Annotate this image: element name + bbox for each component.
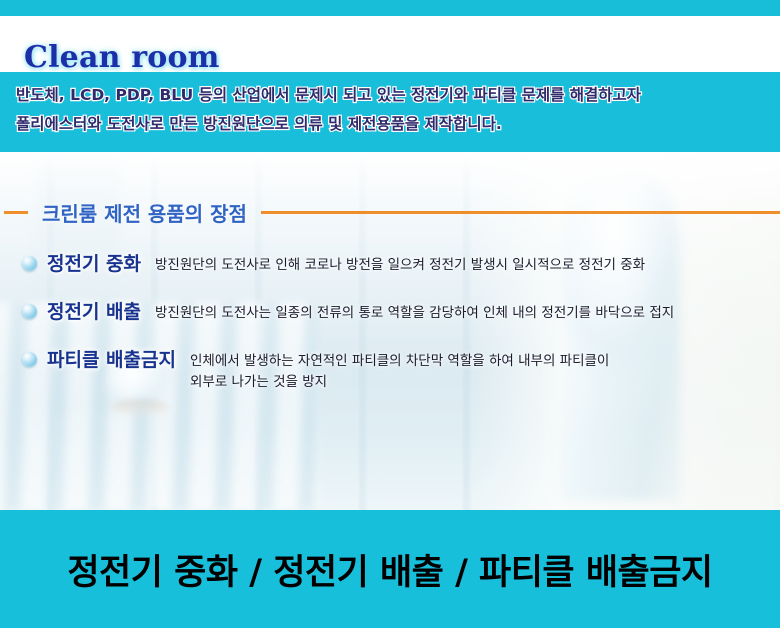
intro-band: 반도체, LCD, PDP, BLU 등의 산업에서 문제시 되고 있는 정전기… [0,72,780,152]
advantage-item-particle-block: 파티클 배출금지 인체에서 발생하는 자연적인 파티클의 차단막 역할을 하여 … [0,344,780,393]
title-band: Clean room [0,16,780,72]
bottom-banner-text: 정전기 중화 / 정전기 배출 / 파티클 배출금지 [67,544,712,595]
advantage-label: 정전기 배출 [47,296,141,328]
sphere-bullet-icon [22,352,37,367]
clean-room-promo-page: Clean room 반도체, LCD, PDP, BLU 등의 산업에서 문제… [0,0,780,628]
intro-line-1: 반도체, LCD, PDP, BLU 등의 산업에서 문제시 되고 있는 정전기… [16,81,768,110]
heading-rule-right-icon [261,211,780,214]
sphere-bullet-icon [22,256,37,271]
heading-rule-left-icon [4,211,28,214]
advantage-description: 방진원단의 도전사로 인해 코로나 방전을 일으켜 정전기 발생시 일시적으로 … [155,248,780,276]
advantage-item-static-discharge: 정전기 배출 방진원단의 도전사는 일종의 전류의 통로 역할을 감당하여 인체… [0,296,780,330]
advantage-list: 정전기 중화 방진원단의 도전사로 인해 코로나 방전을 일으켜 정전기 발생시… [0,248,780,407]
advantage-label: 정전기 중화 [47,248,141,280]
advantage-item-static-neutralization: 정전기 중화 방진원단의 도전사로 인해 코로나 방전을 일으켜 정전기 발생시… [0,248,780,282]
advantage-description-line: 방진원단의 도전사로 인해 코로나 방전을 일으켜 정전기 발생시 일시적으로 … [155,255,780,276]
content-photo-area: 크린룸 제전 용품의 장점 정전기 중화 방진원단의 도전사로 인해 코로나 방… [0,152,780,510]
top-accent-rule [0,0,780,16]
advantage-label: 파티클 배출금지 [47,344,176,376]
advantage-description-line: 외부로 나가는 것을 방지 [190,372,780,393]
advantage-description-line: 인체에서 발생하는 자연적인 파티클의 차단막 역할을 하여 내부의 파티클이 [190,351,780,372]
intro-text-block: 반도체, LCD, PDP, BLU 등의 산업에서 문제시 되고 있는 정전기… [16,81,768,139]
bottom-summary-banner: 정전기 중화 / 정전기 배출 / 파티클 배출금지 [0,510,780,628]
sphere-bullet-icon [22,304,37,319]
section-title: 크린룸 제전 용품의 장점 [42,198,247,227]
advantage-description: 인체에서 발생하는 자연적인 파티클의 차단막 역할을 하여 내부의 파티클이 … [190,344,780,393]
advantage-description: 방진원단의 도전사는 일종의 전류의 통로 역할을 감당하여 인체 내의 정전기… [155,296,780,324]
intro-line-2: 폴리에스터와 도전사로 만든 방진원단으로 의류 및 제전용품을 제작합니다. [16,110,768,139]
advantage-description-line: 방진원단의 도전사는 일종의 전류의 통로 역할을 감당하여 인체 내의 정전기… [155,303,780,324]
section-heading: 크린룸 제전 용품의 장점 [0,198,780,227]
page-title: Clean room [24,40,220,75]
